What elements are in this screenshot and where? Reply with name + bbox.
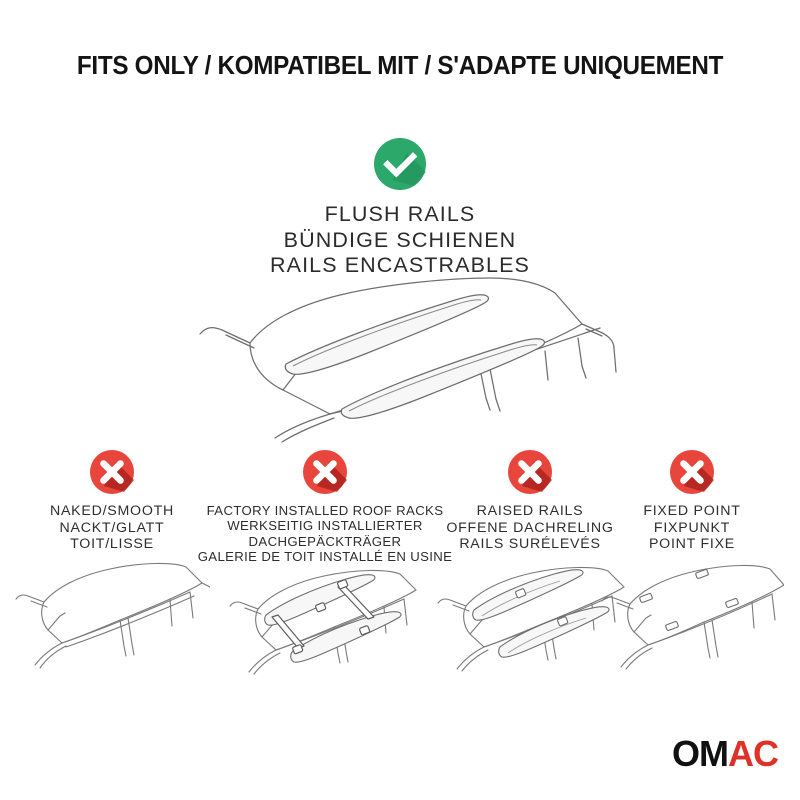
option-label-line-en: NAKED/SMOOTH [12,503,212,520]
car-roof-flush-rails-illustration [190,268,630,448]
x-circle-icon [670,450,714,494]
option-label-line-en: RAISED RAILS [432,503,628,520]
car-roof-naked-illustration [14,550,210,672]
option-label-line-de-2: DACHGEPÄCKTRÄGER [197,534,453,549]
option-label-line-de: FIXPUNKT [603,520,781,537]
logo-text-ac: AC [728,733,778,774]
incompatible-options: NAKED/SMOOTH NACKT/GLATT TOIT/LISSE [0,450,800,700]
option-raised-rails: RAISED RAILS OFFENE DACHRELING RAILS SUR… [432,450,628,553]
option-label: FIXED POINT FIXPUNKT POINT FIXE [603,503,781,553]
option-label-line-de: OFFENE DACHRELING [432,520,628,537]
compatible-section: FLUSH RAILS BÜNDIGE SCHIENEN RAILS ENCAS… [0,138,800,279]
compatible-label-line-en: FLUSH RAILS [0,202,800,228]
option-label-line-de: NACKT/GLATT [12,520,212,537]
logo-text-om: OM [672,733,728,774]
option-naked-smooth: NAKED/SMOOTH NACKT/GLATT TOIT/LISSE [12,450,212,553]
car-roof-raised-rails-illustration [432,550,628,672]
option-label-line-de-1: WERKSEITIG INSTALLIERTER [197,518,453,533]
page-title: FITS ONLY / KOMPATIBEL MIT / S'ADAPTE UN… [20,52,780,81]
car-roof-factory-racks-illustration [220,553,430,675]
check-circle-icon [374,138,426,190]
compatible-label-line-de: BÜNDIGE SCHIENEN [0,228,800,254]
option-label-line-en: FACTORY INSTALLED ROOF RACKS [197,503,453,518]
option-label-line-en: FIXED POINT [603,503,781,520]
option-label: NAKED/SMOOTH NACKT/GLATT TOIT/LISSE [12,503,212,553]
option-fixed-point: FIXED POINT FIXPUNKT POINT FIXE [603,450,781,553]
option-factory-roof-racks: FACTORY INSTALLED ROOF RACKS WERKSEITIG … [197,450,453,565]
x-circle-icon [90,450,134,494]
x-circle-icon [303,450,347,494]
omac-logo: OMAC [672,736,778,772]
car-roof-fixed-point-illustration [600,550,784,672]
x-circle-icon [508,450,552,494]
option-label: RAISED RAILS OFFENE DACHRELING RAILS SUR… [432,503,628,553]
